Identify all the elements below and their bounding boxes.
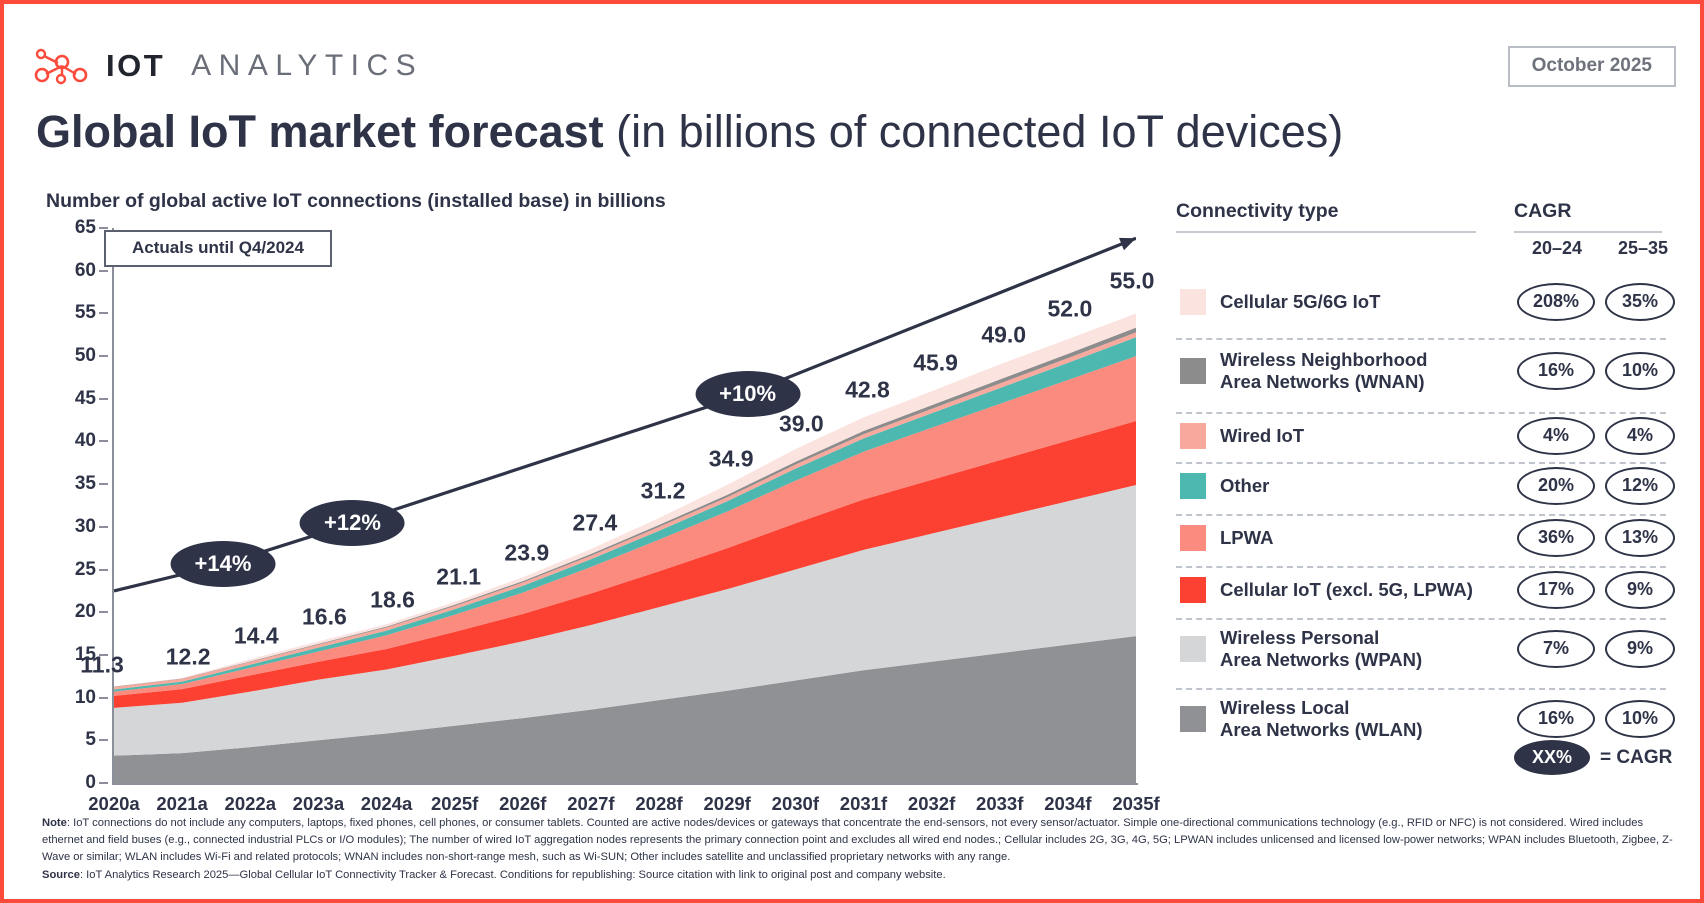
x-tick-label: 2026f bbox=[499, 793, 546, 815]
cagr-2535-badge: 13% bbox=[1605, 519, 1675, 557]
y-tick-label: 45 bbox=[75, 388, 96, 410]
y-tick-mark bbox=[99, 611, 108, 613]
brand-name-bold: IOT bbox=[106, 48, 165, 84]
legend-color-swatch bbox=[1180, 706, 1206, 732]
legend-row-divider bbox=[1176, 688, 1666, 690]
footnote-note-label: Note bbox=[42, 817, 67, 829]
x-axis-line bbox=[112, 783, 1138, 785]
cagr-key-pill: XX% bbox=[1514, 740, 1590, 775]
legend-label: Wireless NeighborhoodArea Networks (WNAN… bbox=[1220, 349, 1427, 393]
y-tick-label: 50 bbox=[75, 345, 96, 367]
data-value-label: 42.8 bbox=[845, 376, 890, 403]
cagr-2024-badge: 36% bbox=[1517, 519, 1595, 557]
x-tick-label: 2030f bbox=[772, 793, 819, 815]
x-tick-label: 2022a bbox=[225, 793, 276, 815]
x-tick-label: 2020a bbox=[88, 793, 139, 815]
footnote-note-body: : IoT connections do not include any com… bbox=[42, 817, 1673, 863]
legend-row[interactable]: Wired IoT4%4% bbox=[1176, 412, 1684, 460]
y-tick-label: 40 bbox=[75, 430, 96, 452]
plot-area: 11.312.214.416.618.621.123.927.431.234.9… bbox=[114, 228, 1136, 783]
cagr-2535-badge: 4% bbox=[1605, 417, 1675, 455]
legend-label: Cellular 5G/6G IoT bbox=[1220, 291, 1380, 313]
y-tick-label: 5 bbox=[85, 729, 96, 751]
footnote-source-label: Source bbox=[42, 869, 80, 881]
cagr-2535-badge: 9% bbox=[1605, 630, 1675, 668]
page-title-light: (in billions of connected IoT devices) bbox=[604, 106, 1344, 157]
data-value-label: 55.0 bbox=[1110, 268, 1155, 295]
legend-color-swatch bbox=[1180, 636, 1206, 662]
cagr-2024-badge: 20% bbox=[1517, 467, 1595, 505]
legend-subcol-2535: 25–35 bbox=[1604, 238, 1682, 259]
legend-color-swatch bbox=[1180, 289, 1206, 315]
data-value-label: 21.1 bbox=[436, 563, 481, 590]
data-value-label: 27.4 bbox=[573, 510, 618, 537]
legend-color-swatch bbox=[1180, 577, 1206, 603]
data-value-label: 45.9 bbox=[913, 350, 958, 377]
cagr-annotation-pill: +10% bbox=[695, 371, 800, 417]
data-value-label: 16.6 bbox=[302, 604, 347, 631]
x-tick-label: 2035f bbox=[1112, 793, 1159, 815]
legend-rule-left bbox=[1176, 231, 1476, 233]
legend-label: Wireless LocalArea Networks (WLAN) bbox=[1220, 697, 1423, 741]
cagr-2535-badge: 10% bbox=[1605, 700, 1675, 738]
stacked-area-series bbox=[114, 228, 1136, 783]
legend-color-swatch bbox=[1180, 473, 1206, 499]
data-value-label: 31.2 bbox=[641, 477, 686, 504]
data-value-label: 12.2 bbox=[166, 643, 211, 670]
chart-subtitle: Number of global active IoT connections … bbox=[46, 190, 666, 213]
cagr-annotation-pill: +12% bbox=[300, 500, 405, 546]
y-tick-label: 20 bbox=[75, 601, 96, 623]
poster-frame: IOT ANALYTICS October 2025 Global IoT ma… bbox=[0, 0, 1704, 903]
x-tick-label: 2029f bbox=[704, 793, 751, 815]
y-tick-mark bbox=[99, 739, 108, 741]
legend-color-swatch bbox=[1180, 525, 1206, 551]
y-tick-mark bbox=[99, 483, 108, 485]
legend-label: Other bbox=[1220, 475, 1269, 497]
legend-footer: XX% = CAGR bbox=[1514, 740, 1672, 775]
data-value-label: 14.4 bbox=[234, 623, 279, 650]
y-tick-mark bbox=[99, 398, 108, 400]
y-tick-mark bbox=[99, 697, 108, 699]
brand-logo: IOT ANALYTICS bbox=[32, 44, 423, 88]
cagr-2535-badge: 12% bbox=[1605, 467, 1675, 505]
legend-label: LPWA bbox=[1220, 527, 1273, 549]
y-tick-mark bbox=[99, 782, 108, 784]
legend-header-cagr: CAGR bbox=[1514, 200, 1571, 223]
y-tick-mark bbox=[99, 355, 108, 357]
footnote-source: Source: IoT Analytics Research 2025—Glob… bbox=[42, 867, 1676, 884]
x-tick-label: 2028f bbox=[635, 793, 682, 815]
legend-row-divider bbox=[1176, 412, 1666, 414]
legend: Connectivity type CAGR 20–24 25–35 Cellu… bbox=[1176, 200, 1684, 790]
data-value-label: 49.0 bbox=[981, 321, 1026, 348]
legend-label-line2: Area Networks (WLAN) bbox=[1220, 719, 1423, 740]
cagr-2024-badge: 208% bbox=[1517, 283, 1595, 321]
x-tick-label: 2033f bbox=[976, 793, 1023, 815]
data-value-label: 11.3 bbox=[80, 651, 124, 678]
y-tick-label: 55 bbox=[75, 302, 96, 324]
y-tick-label: 65 bbox=[75, 217, 96, 239]
legend-row[interactable]: LPWA36%13% bbox=[1176, 514, 1684, 562]
legend-label: Wireless PersonalArea Networks (WPAN) bbox=[1220, 627, 1422, 671]
page-title-bold: Global IoT market forecast bbox=[36, 106, 604, 157]
x-tick-label: 2024a bbox=[361, 793, 412, 815]
legend-row[interactable]: Other20%12% bbox=[1176, 462, 1684, 510]
legend-row[interactable]: Wireless NeighborhoodArea Networks (WNAN… bbox=[1176, 338, 1684, 404]
data-value-label: 39.0 bbox=[779, 411, 824, 438]
legend-label: Wired IoT bbox=[1220, 425, 1304, 447]
y-tick-label: 30 bbox=[75, 516, 96, 538]
legend-row-divider bbox=[1176, 462, 1666, 464]
cagr-annotation-pill: +14% bbox=[171, 541, 276, 587]
legend-row-divider bbox=[1176, 618, 1666, 620]
data-value-label: 18.6 bbox=[370, 587, 415, 614]
y-tick-mark bbox=[99, 440, 108, 442]
cagr-2024-badge: 17% bbox=[1517, 571, 1595, 609]
x-tick-label: 2027f bbox=[567, 793, 614, 815]
cagr-2024-badge: 7% bbox=[1517, 630, 1595, 668]
x-tick-label: 2034f bbox=[1044, 793, 1091, 815]
x-tick-label: 2032f bbox=[908, 793, 955, 815]
legend-row[interactable]: Cellular 5G/6G IoT208%35% bbox=[1176, 274, 1684, 330]
cagr-2024-badge: 16% bbox=[1517, 700, 1595, 738]
data-value-label: 52.0 bbox=[1047, 296, 1092, 323]
y-tick-label: 35 bbox=[75, 473, 96, 495]
cagr-2024-badge: 16% bbox=[1517, 352, 1595, 390]
legend-row[interactable]: Cellular IoT (excl. 5G, LPWA)17%9% bbox=[1176, 566, 1684, 614]
legend-row[interactable]: Wireless PersonalArea Networks (WPAN)7%9… bbox=[1176, 618, 1684, 680]
y-tick-label: 60 bbox=[75, 260, 96, 282]
y-tick-label: 10 bbox=[75, 687, 96, 709]
legend-row-divider bbox=[1176, 566, 1666, 568]
cagr-2535-badge: 35% bbox=[1605, 283, 1675, 321]
cagr-2024-badge: 4% bbox=[1517, 417, 1595, 455]
page-title: Global IoT market forecast (in billions … bbox=[36, 108, 1343, 157]
brand-name-light: ANALYTICS bbox=[191, 49, 423, 83]
y-tick-mark bbox=[99, 569, 108, 571]
legend-label-line2: Area Networks (WNAN) bbox=[1220, 371, 1425, 392]
y-tick-label: 0 bbox=[85, 772, 96, 794]
legend-header-connectivity: Connectivity type bbox=[1176, 200, 1339, 223]
x-tick-label: 2031f bbox=[840, 793, 887, 815]
legend-color-swatch bbox=[1180, 358, 1206, 384]
cagr-2535-badge: 10% bbox=[1605, 352, 1675, 390]
header: IOT ANALYTICS October 2025 bbox=[4, 4, 1700, 108]
data-value-label: 23.9 bbox=[504, 539, 549, 566]
footnote: Note: IoT connections do not include any… bbox=[42, 815, 1676, 885]
actuals-annotation: Actuals until Q4/2024 bbox=[104, 230, 332, 267]
legend-row-divider bbox=[1176, 338, 1666, 340]
y-tick-mark bbox=[99, 526, 108, 528]
trend-arrowhead bbox=[1119, 238, 1136, 250]
legend-label: Cellular IoT (excl. 5G, LPWA) bbox=[1220, 579, 1473, 601]
network-nodes-icon bbox=[32, 44, 92, 88]
date-badge: October 2025 bbox=[1508, 46, 1676, 87]
data-value-label: 34.9 bbox=[709, 446, 754, 473]
legend-label-line2: Area Networks (WPAN) bbox=[1220, 649, 1422, 670]
x-tick-label: 2025f bbox=[431, 793, 478, 815]
x-tick-label: 2021a bbox=[156, 793, 207, 815]
y-tick-mark bbox=[99, 270, 108, 272]
x-tick-label: 2023a bbox=[293, 793, 344, 815]
y-tick-label: 25 bbox=[75, 559, 96, 581]
legend-row-divider bbox=[1176, 514, 1666, 516]
legend-color-swatch bbox=[1180, 423, 1206, 449]
y-tick-mark bbox=[99, 312, 108, 314]
cagr-2535-badge: 9% bbox=[1605, 571, 1675, 609]
cagr-key-text: = CAGR bbox=[1600, 747, 1672, 769]
y-axis: 05101520253035404550556065 bbox=[46, 228, 114, 783]
y-tick-mark bbox=[99, 227, 108, 229]
legend-subcol-2024: 20–24 bbox=[1518, 238, 1596, 259]
footnote-source-body: : IoT Analytics Research 2025—Global Cel… bbox=[80, 869, 946, 881]
chart: 05101520253035404550556065 11.312.214.41… bbox=[46, 220, 1156, 790]
footnote-note: Note: IoT connections do not include any… bbox=[42, 815, 1676, 866]
legend-rule-right bbox=[1514, 231, 1662, 233]
